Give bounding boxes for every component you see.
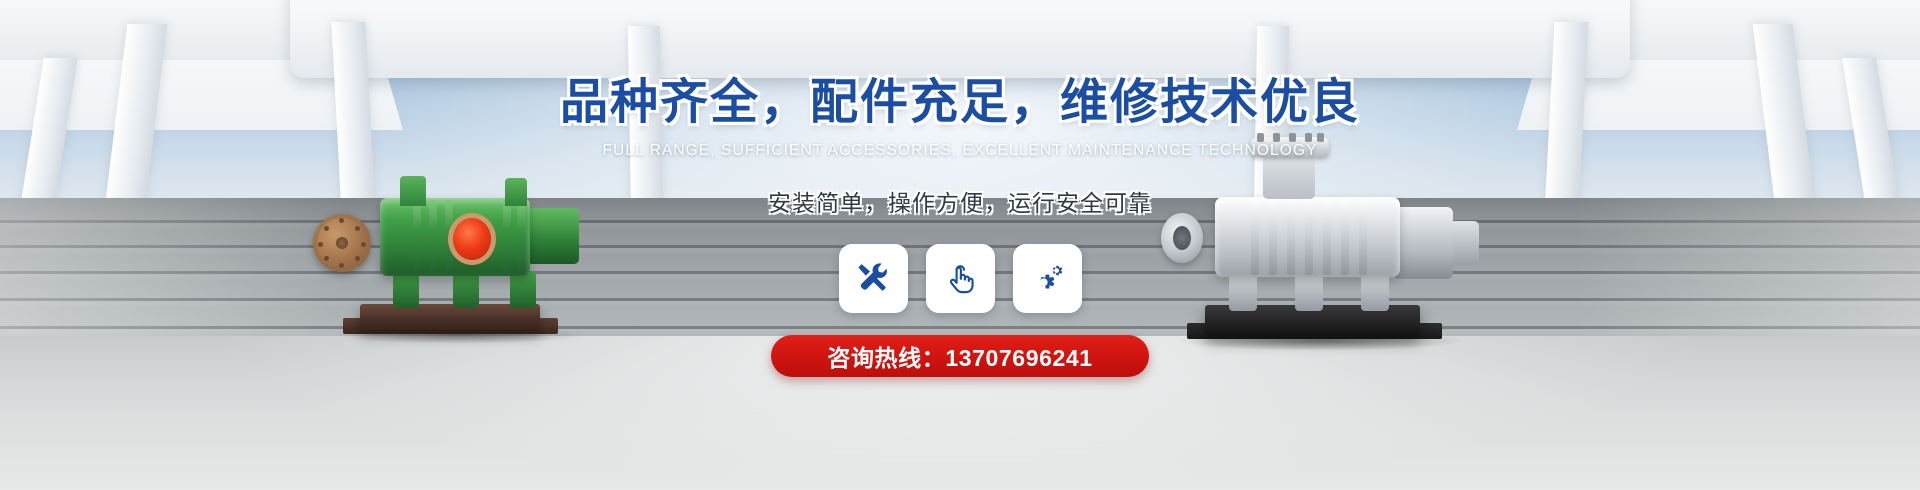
hotline-button[interactable]: 咨询热线：13707696241 [771,335,1149,377]
feature-badge-easy-operation[interactable] [926,244,995,313]
banner-subtitle-english: FULL RANGE, SUFFICIENT ACCESSORIES, EXCE… [602,142,1317,160]
feature-icon-row [839,244,1082,313]
feature-badge-maintenance[interactable] [839,244,908,313]
gears-icon [1028,260,1066,298]
banner-headline: 品种齐全，配件充足，维修技术优良 [560,62,1360,132]
wrench-screwdriver-icon [854,260,892,298]
hotline-text: 咨询热线：13707696241 [827,339,1092,373]
feature-badge-technology[interactable] [1013,244,1082,313]
banner-content: 品种齐全，配件充足，维修技术优良 FULL RANGE, SUFFICIENT … [0,0,1920,490]
tap-hand-icon [941,260,979,298]
hero-banner: 品种齐全，配件充足，维修技术优良 FULL RANGE, SUFFICIENT … [0,0,1920,490]
banner-subtitle-chinese: 安装简单，操作方便，运行安全可靠 [768,184,1152,218]
